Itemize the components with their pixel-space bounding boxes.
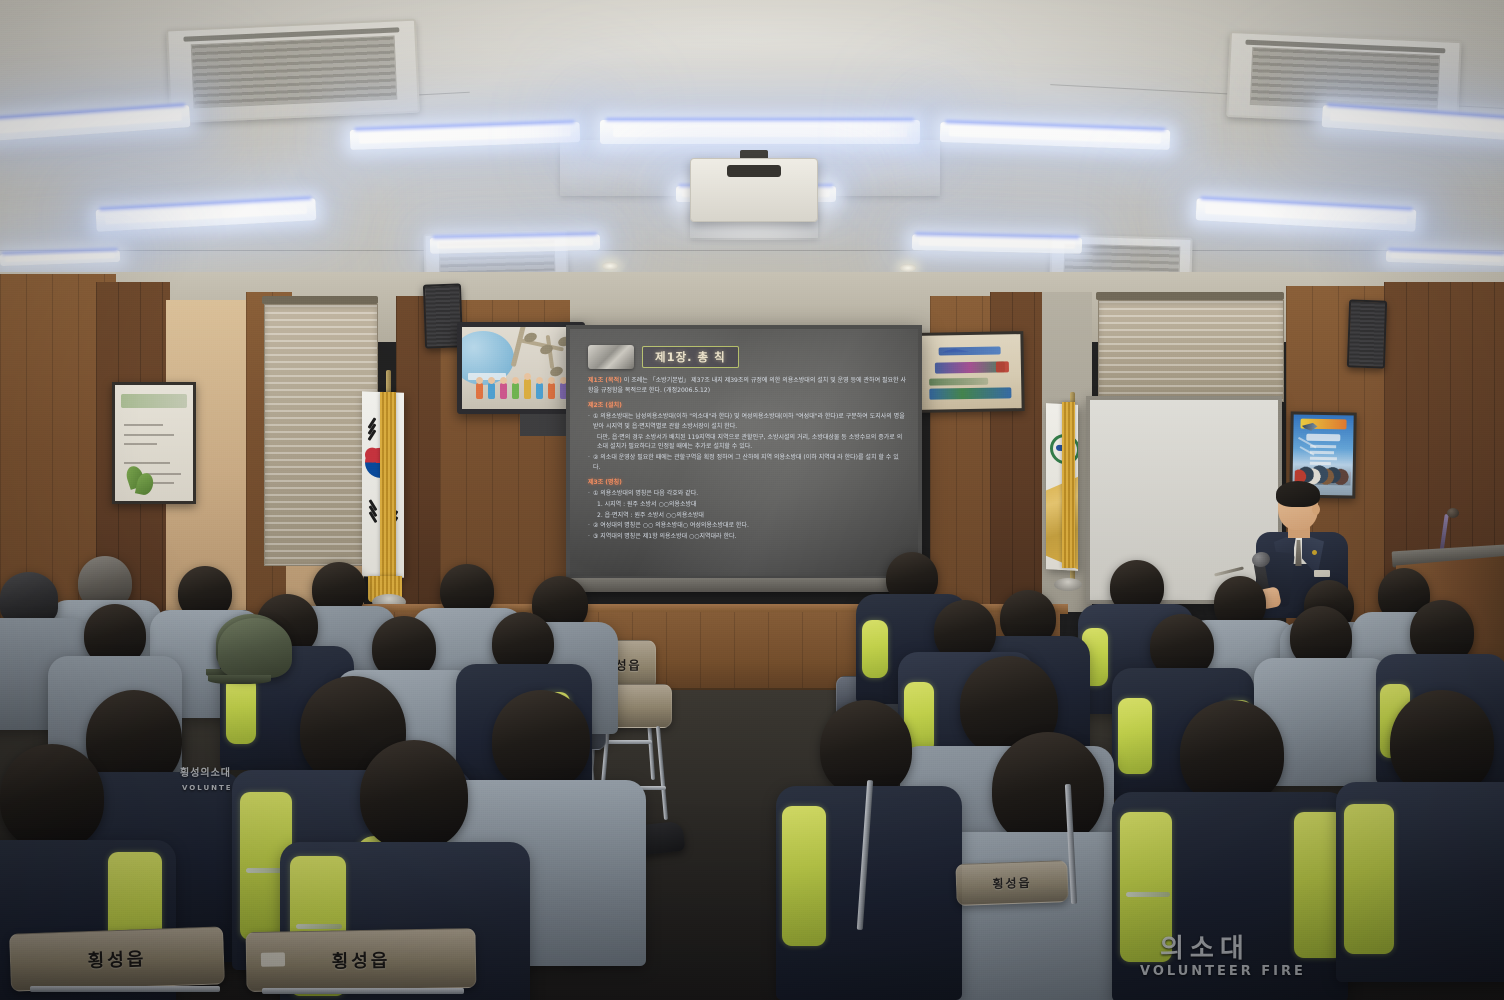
audience-head-cap (218, 618, 292, 678)
chair-backrest: 횡성읍 (245, 928, 476, 992)
list-item: ② 여성대의 명칭은 ○○ 의용소방대○ 여성의용소방대로 한다. (588, 521, 906, 531)
audience-head (0, 744, 104, 850)
article-2-heading: 제2조 (설치) (588, 401, 906, 411)
ac-grille (1249, 47, 1440, 113)
downlight (900, 264, 916, 272)
hiviz-panel (862, 620, 888, 678)
ceiling-seam (0, 250, 1504, 251)
chair-label: 횡성읍 (957, 873, 1068, 894)
framed-certificate (112, 382, 196, 504)
article-3-heading: 제3조 (명칭) (588, 478, 906, 488)
ceiling-light (600, 120, 920, 144)
wall-speaker (1347, 299, 1387, 368)
chair-backrest: 횡성읍 (955, 860, 1068, 906)
slide-body: 제1조 (목적) 이 조례는 「소방기본법」 제37조 내지 제39조의 규정에… (588, 376, 906, 542)
banner-artwork (918, 334, 1021, 410)
podium-microphone-icon (1447, 508, 1459, 518)
poster-subtitle-band (1306, 434, 1340, 441)
banner-seal-icon (995, 361, 1008, 372)
slide-title-row: 제1장. 총 칙 (588, 345, 906, 369)
flag-stand (1054, 578, 1082, 591)
list-item: 1. 시지역 : 원주 소방서 ○○의용소방대 (588, 500, 906, 510)
downlight (602, 262, 618, 270)
chair-label: 횡성읍 (11, 942, 224, 975)
banner-script-line (929, 378, 988, 386)
chair-backrest: 횡성읍 (9, 926, 225, 991)
wall-display-screen (462, 327, 580, 409)
hiviz-panel (1118, 698, 1152, 774)
jacket-back-english-text: VOLUNTEER FIRE (1140, 964, 1306, 979)
flag-fringe (1062, 402, 1075, 568)
article-1-heading: 제1조 (목적) (588, 377, 622, 384)
certificate-title-block (121, 394, 187, 408)
banner-line-1 (939, 346, 1000, 355)
hiviz-panel (1344, 804, 1394, 954)
article-1-text: 이 조례는 「소방기본법」 제37조 내지 제39조의 규정에 의한 의용소방대… (588, 377, 906, 394)
audience-head (992, 732, 1104, 846)
presenter-hair (1276, 481, 1320, 507)
audience-head (492, 690, 590, 790)
blind-headrail (262, 296, 378, 304)
jacket-korean-text: 횡성의소대 (180, 764, 231, 779)
presenter-ear (1312, 504, 1320, 515)
audience-head (360, 740, 468, 850)
projection-screen-frame: 제1장. 총 칙 제1조 (목적) 이 조례는 「소방기본법」 제37조 내지 … (566, 325, 922, 580)
list-item: 다만, 읍·면의 경우 소방서가 배치된 119지역대 지역으로 관할인구, 소… (588, 433, 906, 452)
banner-line-2 (935, 361, 1005, 373)
article-1-paragraph: 제1조 (목적) 이 조례는 「소방기본법」 제37조 내지 제39조의 규정에… (588, 376, 906, 395)
list-item: ② 의소대 운영상 필요한 때에는 관할구역을 획정 정하여 그 산하에 지역 … (588, 453, 906, 472)
audience-head-cap (0, 572, 58, 624)
audience-head (820, 700, 912, 796)
presenter-lapel-pin-icon (1312, 550, 1317, 555)
list-item: ① 의용소방대의 명칭은 다음 각호와 같다. (588, 489, 906, 499)
window-blind (264, 304, 378, 566)
presenter-name-badge (1314, 570, 1330, 577)
certificate-paper (115, 385, 193, 501)
screen-housing (560, 578, 928, 592)
flag-fringe (380, 392, 396, 584)
projection-screen: 제1장. 총 칙 제1조 (목적) 이 조례는 「소방기본법」 제37조 내지 … (570, 329, 918, 576)
blind-headrail (1096, 292, 1284, 300)
jacket-back-korean-text: 의소대 (1160, 928, 1250, 965)
hiviz-panel (226, 676, 256, 744)
slide-chapter-title: 제1장. 총 칙 (642, 346, 739, 368)
ceiling-projector (690, 158, 818, 222)
article-3-list: ① 의용소방대의 명칭은 다음 각호와 같다. 1. 시지역 : 원주 소방서 … (588, 489, 906, 542)
projector-lens-icon (727, 165, 781, 177)
audience-head (1390, 690, 1494, 796)
hiviz-panel (782, 806, 826, 946)
slide-content: 제1장. 총 칙 제1조 (목적) 이 조례는 「소방기본법」 제37조 내지 … (570, 329, 918, 576)
list-item: 2. 읍·면지역 : 원주 소방서 ○○의용소방대 (588, 511, 906, 521)
auditorium-photo: 제1장. 총 칙 제1조 (목적) 이 조례는 「소방기본법」 제37조 내지 … (0, 0, 1504, 1000)
audience-head (1180, 700, 1284, 806)
list-item: ① 의용소방대는 남성의용소방대(이하 "의소대"라 한다) 및 여성의용소방대… (588, 412, 906, 431)
banner-slogan (929, 388, 1011, 400)
window-blind (1098, 300, 1284, 402)
ac-grille (191, 36, 397, 108)
chair-label: 횡성읍 (247, 945, 475, 975)
list-item: ③ 지역대의 명칭은 제1항 의용소방대 ○○지역대라 한다. (588, 532, 906, 542)
framed-banner (915, 331, 1024, 413)
slide-decor-chip (588, 345, 634, 369)
ac-cassette (166, 19, 420, 124)
article-2-list: ① 의용소방대는 남성의용소방대(이하 "의소대"라 한다) 및 여성의용소방대… (588, 412, 906, 472)
